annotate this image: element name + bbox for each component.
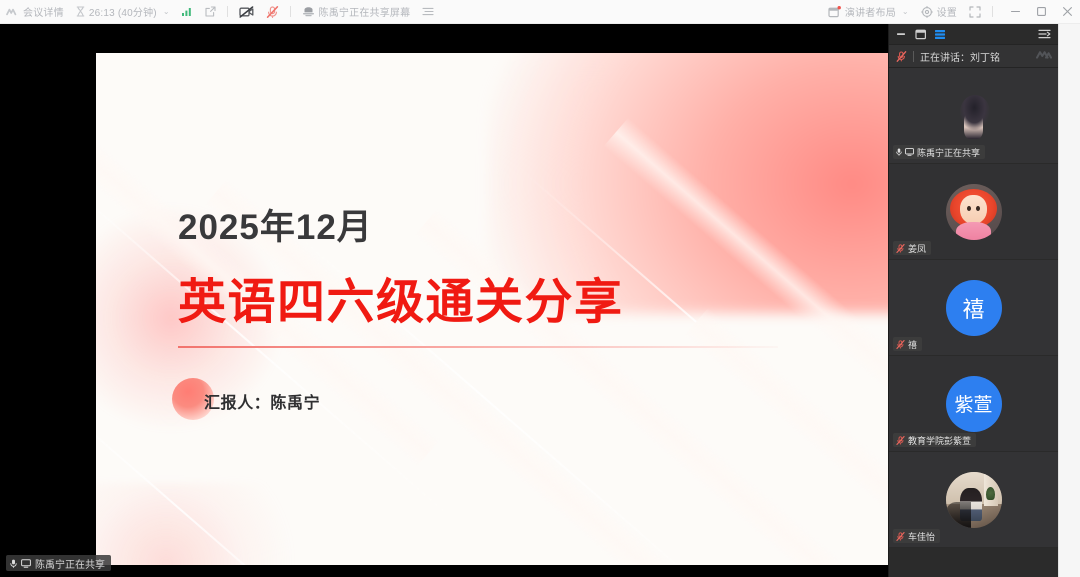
avatar: 紫萱 xyxy=(946,376,1002,432)
mic-toggle-button[interactable] xyxy=(260,0,285,24)
participant-name: 禧 xyxy=(908,338,917,351)
screen-share-icon xyxy=(302,6,315,17)
participant-nametag: 禧 xyxy=(893,337,922,351)
participant-tile[interactable]: 紫萱 教育学院彭紫萱 xyxy=(889,356,1058,452)
shared-screen-stage[interactable]: 2025年12月 英语四六级通关分享 汇报人：陈禹宁 陈禹宁正在共享 xyxy=(0,24,888,577)
maximize-button[interactable] xyxy=(1028,0,1054,24)
panel-collapse-button[interactable] xyxy=(1038,29,1051,39)
participant-nametag: 车佳怡 xyxy=(893,529,940,543)
mic-off-icon xyxy=(896,51,907,62)
slide-title: 英语四六级通关分享 xyxy=(178,262,624,332)
chevron-down-icon[interactable]: ⌄ xyxy=(163,7,170,16)
slide-presenter: 汇报人：陈禹宁 xyxy=(204,389,320,413)
participant-tile-list: 陈禹宁正在共享 姜凤 禧 xyxy=(889,68,1058,577)
toolbar-divider xyxy=(227,6,228,17)
avatar xyxy=(946,88,1002,144)
participant-name: 陈禹宁正在共享 xyxy=(917,146,980,159)
slide-divider xyxy=(178,346,778,348)
screen-share-status[interactable]: 陈禹宁正在共享屏幕 xyxy=(296,0,417,24)
meeting-details-button[interactable]: 会议详情 xyxy=(0,0,70,24)
network-signal-button[interactable] xyxy=(176,0,199,24)
mic-off-icon xyxy=(896,532,905,541)
slide-content: 2025年12月 英语四六级通关分享 汇报人：陈禹宁 xyxy=(96,53,888,565)
stage-share-badge-label: 陈禹宁正在共享 xyxy=(35,556,105,571)
presentation-slide[interactable]: 2025年12月 英语四六级通关分享 汇报人：陈禹宁 xyxy=(96,53,888,565)
collapse-panel-icon xyxy=(1038,29,1051,39)
mic-icon xyxy=(10,559,17,568)
layout-button[interactable]: 演讲者布局 ⌄ xyxy=(822,0,915,24)
popout-window-button[interactable] xyxy=(199,0,222,24)
more-options-icon xyxy=(422,7,434,16)
close-icon xyxy=(1062,6,1073,17)
participant-nametag: 教育学院彭紫萱 xyxy=(893,433,976,447)
toolbar-divider-3 xyxy=(992,6,993,17)
participant-tile[interactable]: 禧 禧 xyxy=(889,260,1058,356)
participant-panel: 正在讲话：刘丁铭 陈禹宁正在共享 xyxy=(888,24,1058,577)
mic-off-icon xyxy=(896,436,905,445)
participant-name: 教育学院彭紫萱 xyxy=(908,434,971,447)
layout-label: 演讲者布局 xyxy=(845,4,896,19)
layout-icon xyxy=(828,6,841,18)
meeting-details-label: 会议详情 xyxy=(23,4,64,19)
screen-icon xyxy=(905,148,914,156)
chevron-down-icon-2[interactable]: ⌄ xyxy=(902,7,909,16)
tencent-meeting-icon xyxy=(1036,50,1052,63)
fullscreen-button[interactable] xyxy=(963,0,987,24)
settings-label: 设置 xyxy=(937,4,957,19)
participant-tile[interactable]: 陈禹宁正在共享 xyxy=(889,68,1058,164)
minimize-icon xyxy=(1010,6,1021,17)
panel-header xyxy=(889,24,1058,44)
hourglass-icon xyxy=(76,6,85,17)
panel-restore-button[interactable] xyxy=(915,29,927,40)
meeting-timer[interactable]: 26:13 (40分钟) ⌄ xyxy=(70,0,176,24)
avatar xyxy=(946,472,1002,528)
stage-share-badge: 陈禹宁正在共享 xyxy=(6,555,111,571)
slide-date: 2025年12月 xyxy=(178,199,373,250)
panel-list-view-button[interactable] xyxy=(934,29,946,40)
window-controls xyxy=(1002,0,1080,24)
mic-icon xyxy=(896,148,902,156)
fullscreen-icon xyxy=(969,6,981,18)
mic-off-icon xyxy=(896,340,905,349)
signal-bars-icon xyxy=(182,7,193,16)
screen-icon xyxy=(21,559,31,568)
active-speaker-bar: 正在讲话：刘丁铭 xyxy=(889,44,1058,68)
gear-icon xyxy=(921,6,933,18)
settings-button[interactable]: 设置 xyxy=(915,0,963,24)
list-view-icon xyxy=(934,29,946,40)
close-button[interactable] xyxy=(1054,0,1080,24)
participant-nametag: 陈禹宁正在共享 xyxy=(893,145,985,159)
speaker-bar-divider xyxy=(913,51,914,62)
minimize-button[interactable] xyxy=(1002,0,1028,24)
avatar xyxy=(946,184,1002,240)
participant-nametag: 姜凤 xyxy=(893,241,931,255)
minimize-icon xyxy=(896,29,908,39)
panel-minimize-button[interactable] xyxy=(896,29,908,39)
maximize-icon xyxy=(1036,6,1047,17)
tencent-meeting-icon xyxy=(6,7,19,17)
participant-name: 车佳怡 xyxy=(908,530,935,543)
active-speaker-label: 正在讲话：刘丁铭 xyxy=(920,49,1000,64)
more-options-button[interactable] xyxy=(416,0,440,24)
toolbar-divider-2 xyxy=(290,6,291,17)
meeting-window: 会议详情 26:13 (40分钟) ⌄ xyxy=(0,0,1080,577)
restore-icon xyxy=(915,29,927,40)
avatar: 禧 xyxy=(946,280,1002,336)
sharing-status-label: 陈禹宁正在共享屏幕 xyxy=(319,4,411,19)
participant-tile[interactable]: 车佳怡 xyxy=(889,452,1058,548)
panel-right-rail xyxy=(1058,24,1080,577)
meeting-timer-label: 26:13 (40分钟) xyxy=(89,4,157,19)
participant-tile[interactable]: 姜凤 xyxy=(889,164,1058,260)
video-off-icon xyxy=(239,6,254,18)
video-toggle-button[interactable] xyxy=(233,0,260,24)
top-toolbar: 会议详情 26:13 (40分钟) ⌄ xyxy=(0,0,1080,24)
participant-name: 姜凤 xyxy=(908,242,926,255)
popout-window-icon xyxy=(205,6,216,17)
mic-off-icon xyxy=(266,6,279,18)
mic-off-icon xyxy=(896,244,905,253)
